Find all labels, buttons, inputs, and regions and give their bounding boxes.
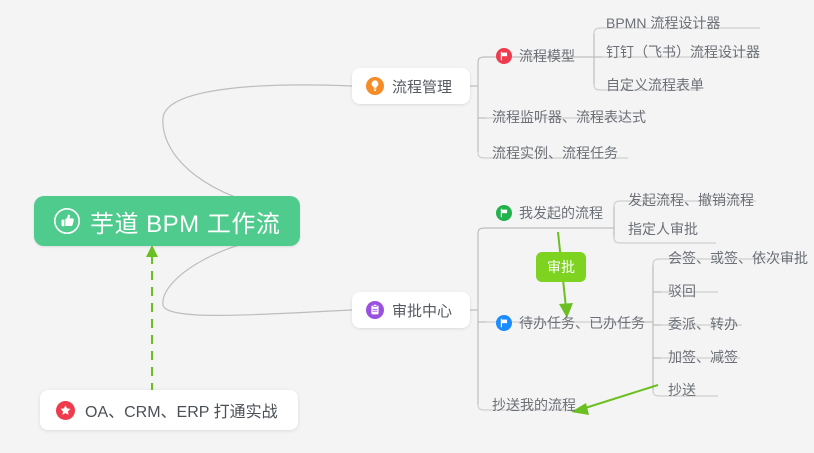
root-label: 芋道 BPM 工作流 [90,204,280,239]
label-cc-to-me-process: 抄送我的流程 [492,395,576,415]
mindmap-canvas: 芋道 BPM 工作流 流程管理 流程模型 BPMN 流程设计器 钉 [0,0,814,453]
flag-icon-red [496,48,512,64]
node-my-initiated-process[interactable]: 我发起的流程 [492,200,609,226]
label-countersign-or-sequential: 会签、或签、依次审批 [668,248,808,268]
bottom-card-oa-crm-erp[interactable]: OA、CRM、ERP 打通实战 [40,390,298,430]
branch-node-process-management[interactable]: 流程管理 [352,68,470,104]
label-start-cancel-process: 发起流程、撤销流程 [628,190,754,210]
label-add-remove-sign: 加签、减签 [668,347,738,367]
label-bpmn-designer: BPMN 流程设计器 [606,13,720,33]
node-bpmn-designer[interactable]: BPMN 流程设计器 [600,10,726,36]
lightbulb-icon [366,77,384,95]
flag-icon-blue [496,315,512,331]
bottom-card-label: OA、CRM、ERP 打通实战 [85,398,278,422]
clipboard-icon [366,301,384,319]
node-designated-approver[interactable]: 指定人审批 [622,216,704,242]
node-cc-to-me-process[interactable]: 抄送我的流程 [486,392,582,418]
label-custom-process-form: 自定义流程表单 [606,75,704,95]
node-reject[interactable]: 驳回 [662,278,702,304]
node-custom-process-form[interactable]: 自定义流程表单 [600,72,710,98]
star-icon [56,401,75,420]
node-delegate-transfer[interactable]: 委派、转办 [662,311,744,337]
label-delegate-transfer: 委派、转办 [668,314,738,334]
cc-link-arrow [571,385,658,415]
label-designated-approver: 指定人审批 [628,219,698,239]
label-my-initiated-process: 我发起的流程 [519,203,603,223]
label-reject: 驳回 [668,281,696,301]
flag-icon-green [496,205,512,221]
label-todo-done-tasks: 待办任务、已办任务 [519,313,645,333]
approval-tag-label: 审批 [547,257,575,277]
branch-label-approval-center: 审批中心 [392,300,452,321]
node-dingtalk-feishu-designer[interactable]: 钉钉（飞书）流程设计器 [600,39,766,65]
branch-node-approval-center[interactable]: 审批中心 [352,292,470,328]
label-process-instance-task: 流程实例、流程任务 [492,143,618,163]
node-start-cancel-process[interactable]: 发起流程、撤销流程 [622,187,760,213]
label-dingtalk-feishu-designer: 钉钉（飞书）流程设计器 [606,42,760,62]
label-cc: 抄送 [668,380,696,400]
node-cc[interactable]: 抄送 [662,377,702,403]
root-node[interactable]: 芋道 BPM 工作流 [34,196,300,246]
node-add-remove-sign[interactable]: 加签、减签 [662,344,744,370]
node-process-model[interactable]: 流程模型 [492,43,581,69]
label-process-model: 流程模型 [519,46,575,66]
node-process-listener-expression[interactable]: 流程监听器、流程表达式 [486,104,652,130]
branch-label-process-management: 流程管理 [392,76,452,97]
node-countersign-or-sequential[interactable]: 会签、或签、依次审批 [662,245,814,271]
label-process-listener-expression: 流程监听器、流程表达式 [492,107,646,127]
dashed-arrow-to-root [146,245,158,392]
node-process-instance-task[interactable]: 流程实例、流程任务 [486,140,624,166]
thumbs-up-icon [54,208,80,234]
node-todo-done-tasks[interactable]: 待办任务、已办任务 [492,310,651,336]
approval-tag[interactable]: 审批 [536,252,586,282]
